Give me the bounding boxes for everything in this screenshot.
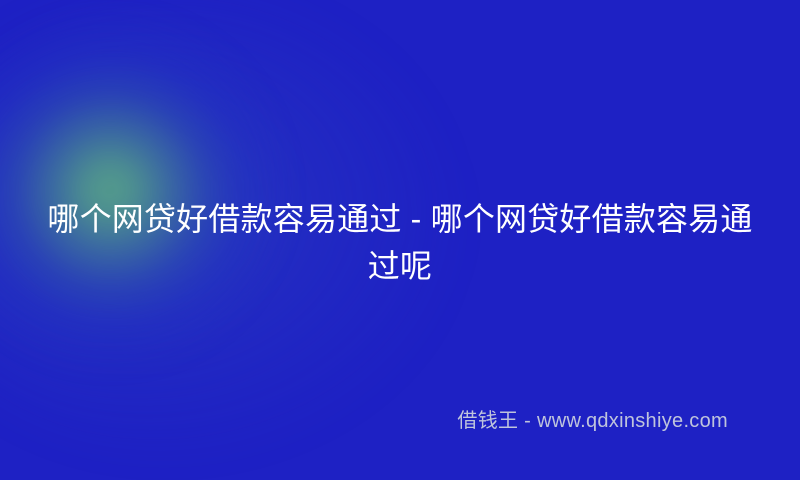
banner-card: 哪个网贷好借款容易通过 - 哪个网贷好借款容易通过呢 借钱王 - www.qdx…: [0, 0, 800, 480]
banner-title: 哪个网贷好借款容易通过 - 哪个网贷好借款容易通过呢: [40, 196, 760, 290]
banner-footer-watermark: 借钱王 - www.qdxinshiye.com: [0, 406, 728, 436]
